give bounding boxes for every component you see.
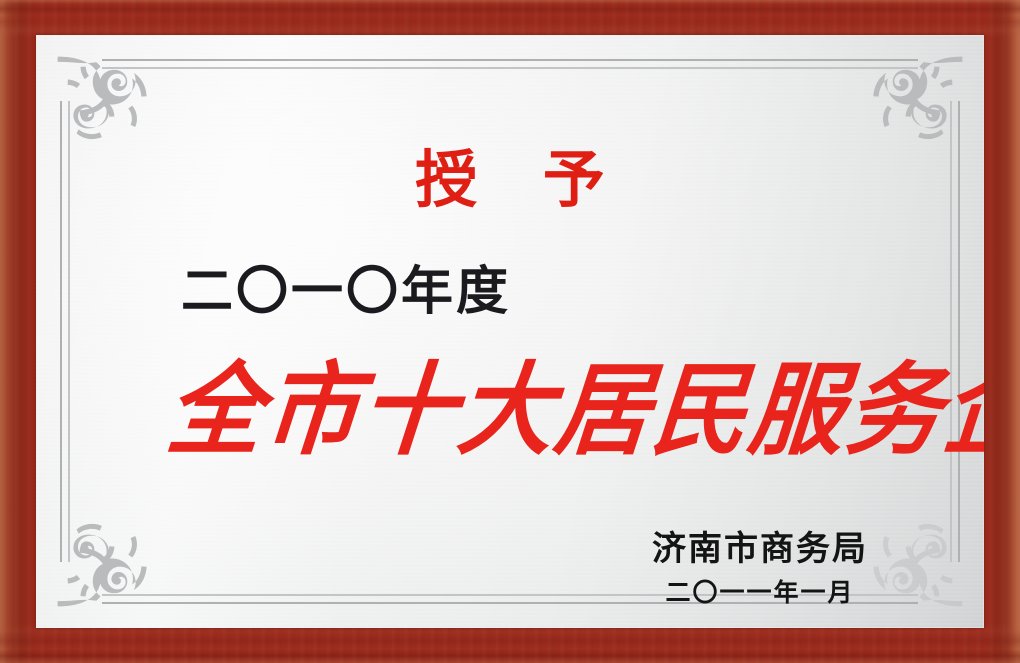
issue-date: 二〇一一年一月 [652,579,868,607]
issuer-block: 济南市商务局 二〇一一年一月 [652,531,868,607]
corner-flourish-ornament-icon [856,51,968,163]
silver-plate: 授 予 二〇一〇年度 全市十大居民服务企业 济南市商务局 二〇一一年一月 [36,35,984,628]
corner-flourish-ornament-icon [52,500,164,612]
inner-rule-top-outer [102,59,918,61]
corner-flourish-ornament-icon [52,51,164,163]
award-heading: 授 予 [36,149,984,211]
award-plaque: 授 予 二〇一〇年度 全市十大居民服务企业 济南市商务局 二〇一一年一月 [0,0,1020,663]
inner-rule-top-inner [102,67,918,69]
issuing-authority: 济南市商务局 [652,531,868,568]
award-year-line: 二〇一〇年度 [181,266,511,318]
award-main-title: 全市十大居民服务企业 [163,358,984,465]
corner-flourish-ornament-icon [856,500,968,612]
